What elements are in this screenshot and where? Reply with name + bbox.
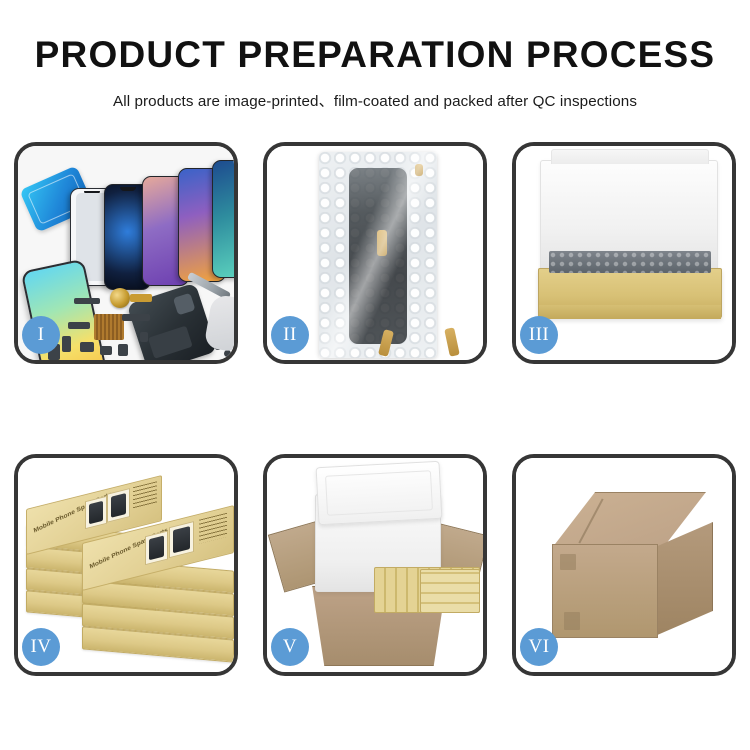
camera-module-icon: [110, 288, 130, 308]
carton-tape-tab: [564, 612, 580, 630]
label-window: [169, 521, 194, 558]
process-step-grid: I II III: [14, 142, 736, 676]
spare-part-icon: [62, 336, 71, 352]
process-step-panel-6: VI: [512, 454, 736, 676]
label-window: [85, 496, 107, 529]
screw-icon: [224, 350, 231, 357]
spare-part-icon: [68, 322, 90, 329]
step-badge-2: II: [271, 316, 309, 354]
page-title: PRODUCT PREPARATION PROCESS: [0, 36, 750, 75]
phone-display-fan: [66, 158, 234, 288]
carton-tape-tab: [560, 554, 576, 570]
process-step-panel-2: II: [263, 142, 487, 364]
packed-retail-boxes: [420, 569, 480, 613]
label-window: [145, 531, 168, 566]
bubble-wrapped-contents-icon: [549, 251, 711, 273]
sealed-carton-icon: [538, 492, 718, 642]
foam-cooler-lid-icon: [316, 461, 443, 525]
process-step-panel-1: I: [14, 142, 238, 364]
logic-board-icon: [94, 314, 124, 340]
box-front-flap: [539, 305, 721, 319]
flex-cable-icon: [377, 230, 387, 256]
process-step-panel-5: V: [263, 454, 487, 676]
header: PRODUCT PREPARATION PROCESS All products…: [0, 0, 750, 111]
label-window: [107, 488, 130, 523]
step-badge-5: V: [271, 628, 309, 666]
step-badge-3: III: [520, 316, 558, 354]
label-screen-image: [149, 536, 164, 561]
phone-notch-icon: [120, 187, 136, 191]
process-step-panel-3: III: [512, 142, 736, 364]
step-badge-4: IV: [22, 628, 60, 666]
label-screen-image: [111, 493, 126, 518]
phone-screen-icon: [212, 160, 234, 278]
label-spec-lines: [133, 481, 157, 509]
label-screen-image: [173, 526, 190, 553]
flex-cable-icon: [130, 294, 152, 302]
spare-part-icon: [74, 298, 100, 304]
label-screen-image: [89, 501, 103, 524]
spare-part-icon: [118, 344, 128, 356]
label-spec-lines: [199, 513, 227, 544]
process-step-panel-4: Mobile Phone Spare Parts Mobile Phone Sp…: [14, 454, 238, 676]
phone-notch-icon: [84, 191, 100, 195]
wrapped-screen-icon: [349, 168, 407, 344]
flex-cable-icon: [415, 164, 423, 176]
spare-part-icon: [100, 346, 112, 355]
kraft-box-tray-icon: [538, 268, 722, 318]
step-badge-6: VI: [520, 628, 558, 666]
step-badge-1: I: [22, 316, 60, 354]
spare-part-icon: [80, 342, 94, 352]
flex-cable-icon: [122, 314, 150, 321]
spare-part-icon: [140, 332, 148, 342]
page-subtitle: All products are image-printed、film-coat…: [0, 89, 750, 111]
bubble-wrap-bag-icon: [319, 152, 437, 358]
